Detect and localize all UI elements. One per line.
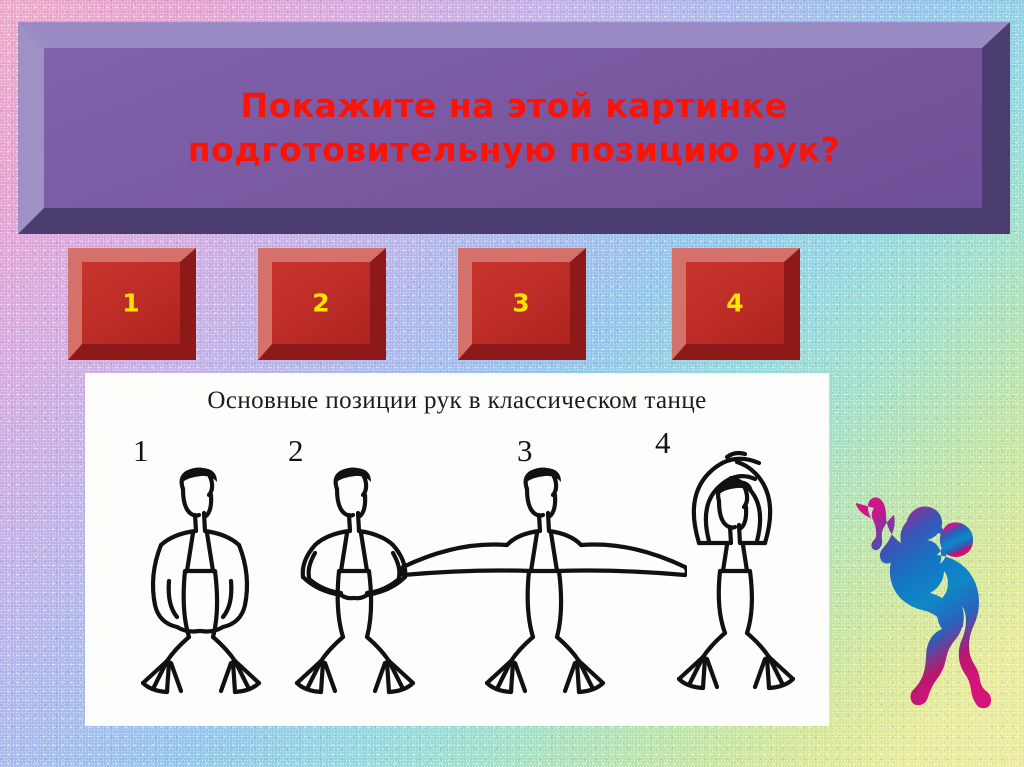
ballet-figure-4-third-position [641, 431, 821, 703]
ballet-positions-image: Основные позиции рук в классическом танц… [85, 373, 829, 726]
title-line-1: Покажите на этой картинке [240, 84, 787, 128]
answer-button-1[interactable]: 1 [68, 248, 196, 360]
dancing-girl-silhouette [856, 492, 1002, 767]
figure-caption: Основные позиции рук в классическом танц… [85, 387, 829, 415]
answer-button-4-label: 4 [686, 291, 784, 316]
answer-button-3[interactable]: 3 [458, 248, 586, 360]
answer-button-4[interactable]: 4 [672, 248, 800, 360]
title-line-2: подготовительную позицию рук? [188, 128, 840, 172]
figure-stage: 1 2 3 4 [85, 429, 829, 726]
answer-button-2-label: 2 [272, 291, 370, 316]
answer-button-2[interactable]: 2 [258, 248, 386, 360]
title-text-block: Покажите на этой картинке подготовительн… [44, 48, 984, 208]
answer-button-1-label: 1 [82, 291, 180, 316]
answer-button-3-label: 3 [472, 291, 570, 316]
slide-canvas: Покажите на этой картинке подготовительн… [0, 0, 1024, 767]
answer-button-row: 1 2 3 4 [68, 248, 810, 364]
